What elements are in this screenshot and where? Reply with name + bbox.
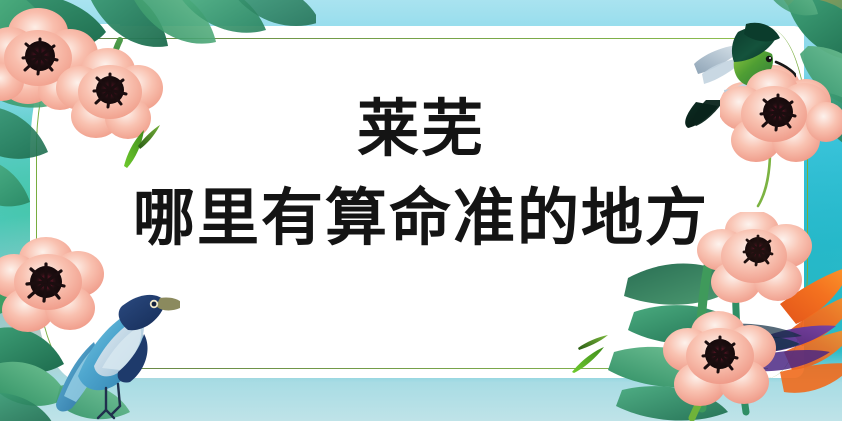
title-line-2: 哪里有算命准的地方 — [110, 185, 732, 250]
anemone-flower-bottom-right-icon — [662, 306, 802, 421]
blue-bird-icon — [48, 272, 180, 421]
title-block: 莱芜 哪里有算命准的地方 — [110, 96, 732, 250]
bird-beak — [156, 297, 180, 310]
anemone-flower-right-front-icon — [720, 64, 842, 186]
poster-canvas: 莱芜 哪里有算命准的地方 — [0, 0, 842, 421]
grass-blade-bottom-icon — [562, 332, 624, 376]
title-line-1: 莱芜 — [110, 96, 732, 161]
